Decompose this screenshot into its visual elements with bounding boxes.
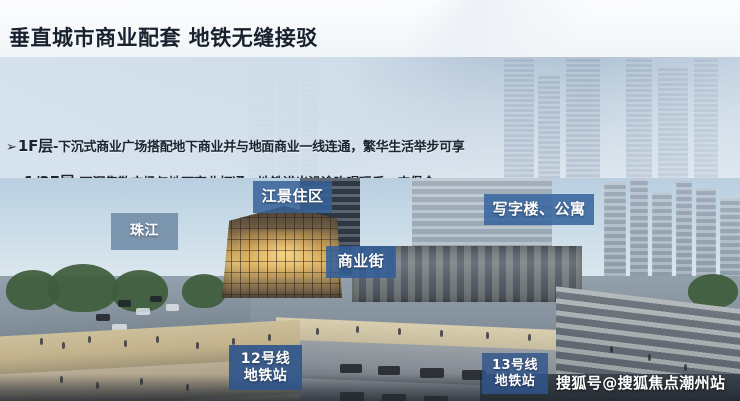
pedestrian-icon — [62, 342, 65, 349]
callout-metro-line-13: 13号线 地铁站 — [482, 353, 548, 394]
pedestrian-icon — [88, 336, 91, 343]
bullet-item-1f: ➢1F层-下沉式商业广场搭配地下商业并与地面商业一线连通，繁华生活举步可享 — [6, 135, 465, 156]
mall-mullion-grid — [222, 206, 342, 298]
callout-office-apartment: 写字楼、公寓 — [484, 194, 594, 225]
bullet-list: ➢1F层-下沉式商业广场搭配地下商业并与地面商业一线连通，繁华生活举步可享 ➢-… — [0, 57, 740, 178]
pedestrian-icon — [156, 336, 159, 343]
pedestrian-icon — [40, 338, 43, 345]
tree-icon — [48, 264, 118, 312]
callout-river-view-residence: 江景住区 — [253, 181, 332, 213]
bullet-item-neg-half-f: ➢-1/2F层-下沉集散广场与地下商业打通，地铁进出沿途吃喝玩乐一应俱全 — [6, 171, 435, 178]
callout-metro-line-12: 12号线 地铁站 — [229, 345, 302, 390]
callout-label-text: 写字楼、公寓 — [492, 201, 585, 219]
callout-label-line2: 地铁站 — [495, 374, 536, 389]
car-icon — [340, 364, 362, 373]
car-icon — [96, 314, 110, 321]
car-icon — [118, 300, 131, 307]
car-icon — [136, 308, 150, 315]
callout-label-text: 商业街 — [338, 253, 385, 271]
pedestrian-icon — [356, 326, 359, 333]
callout-label-text: 江景住区 — [261, 188, 323, 206]
bullet-lead-1f: 1F层 — [18, 137, 53, 155]
callout-label-text: 珠江 — [130, 223, 159, 240]
car-icon — [150, 296, 162, 302]
callout-label-line2: 地铁站 — [244, 368, 288, 385]
page-title: 垂直城市商业配套 地铁无缝接驳 — [9, 22, 318, 52]
callout-label-line1: 12号线 — [241, 351, 290, 368]
callout-commercial-street: 商业街 — [326, 246, 396, 278]
slide-canvas: 垂直城市商业配套 地铁无缝接驳 ➢1F层-下沉式商业广场搭配地下商业并与地面商业… — [0, 0, 740, 401]
pedestrian-icon — [196, 342, 199, 349]
callout-label-line1: 13号线 — [492, 358, 538, 373]
callout-pearl-river: 珠江 — [111, 213, 178, 250]
bullet-band: ➢1F层-下沉式商业广场搭配地下商业并与地面商业一线连通，繁华生活举步可享 ➢-… — [0, 57, 740, 178]
pedestrian-icon — [124, 340, 127, 347]
pedestrian-icon — [486, 332, 489, 339]
watermark: 搜狐号@搜狐焦点潮州站 — [556, 372, 725, 393]
pedestrian-icon — [648, 354, 651, 361]
pedestrian-icon — [398, 328, 401, 335]
bullet-text-1f: -下沉式商业广场搭配地下商业并与地面商业一线连通，繁华生活举步可享 — [53, 140, 465, 155]
pedestrian-icon — [684, 364, 687, 371]
pedestrian-icon — [232, 338, 235, 345]
bullet-arrow-icon: ➢ — [6, 140, 17, 155]
pedestrian-icon — [316, 328, 319, 335]
tree-icon — [182, 274, 226, 308]
pedestrian-icon — [268, 334, 271, 341]
car-icon — [166, 304, 179, 311]
project-rendering-image — [0, 178, 740, 401]
pedestrian-icon — [440, 330, 443, 337]
title-band: 垂直城市商业配套 地铁无缝接驳 — [0, 0, 740, 57]
pedestrian-icon — [610, 346, 613, 353]
pedestrian-icon — [528, 334, 531, 341]
